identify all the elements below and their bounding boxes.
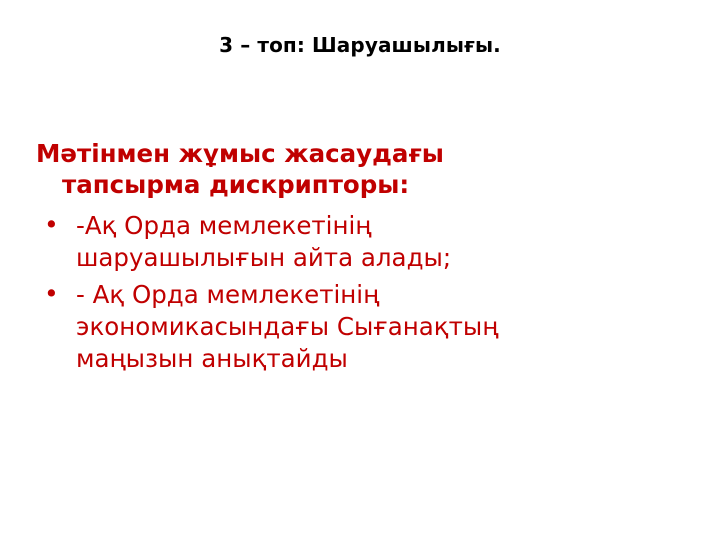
list-item-line-1: - Ақ Орда мемлекетінің [76,279,566,311]
lead-line-1: Мәтінмен жұмыс жасаудағы [36,139,444,168]
bullet-list: • -Ақ Орда мемлекетінің шаруашылығын айт… [36,210,566,375]
list-item-line-2: шаруашылығын айта алады; [76,242,566,274]
slide: 3 – топ: Шаруашылығы. Мәтінмен жұмыс жас… [0,0,720,540]
page-title: 3 – топ: Шаруашылығы. [0,33,720,57]
slide-body: Мәтінмен жұмыс жасаудағы тапсырма дискри… [36,138,566,381]
lead-line-2: тапсырма дискрипторы: [36,169,566,200]
list-item: • -Ақ Орда мемлекетінің шаруашылығын айт… [36,210,566,274]
list-item-line-1: -Ақ Орда мемлекетінің [76,210,566,242]
lead-paragraph: Мәтінмен жұмыс жасаудағы тапсырма дискри… [36,138,566,201]
bullet-dot-icon: • [44,278,59,311]
bullet-dot-icon: • [44,209,59,242]
list-item-line-2: экономикасындағы Сығанақтың [76,311,566,343]
list-item: • - Ақ Орда мемлекетінің экономикасындағ… [36,279,566,375]
list-item-line-3: маңызын анықтайды [76,343,566,375]
